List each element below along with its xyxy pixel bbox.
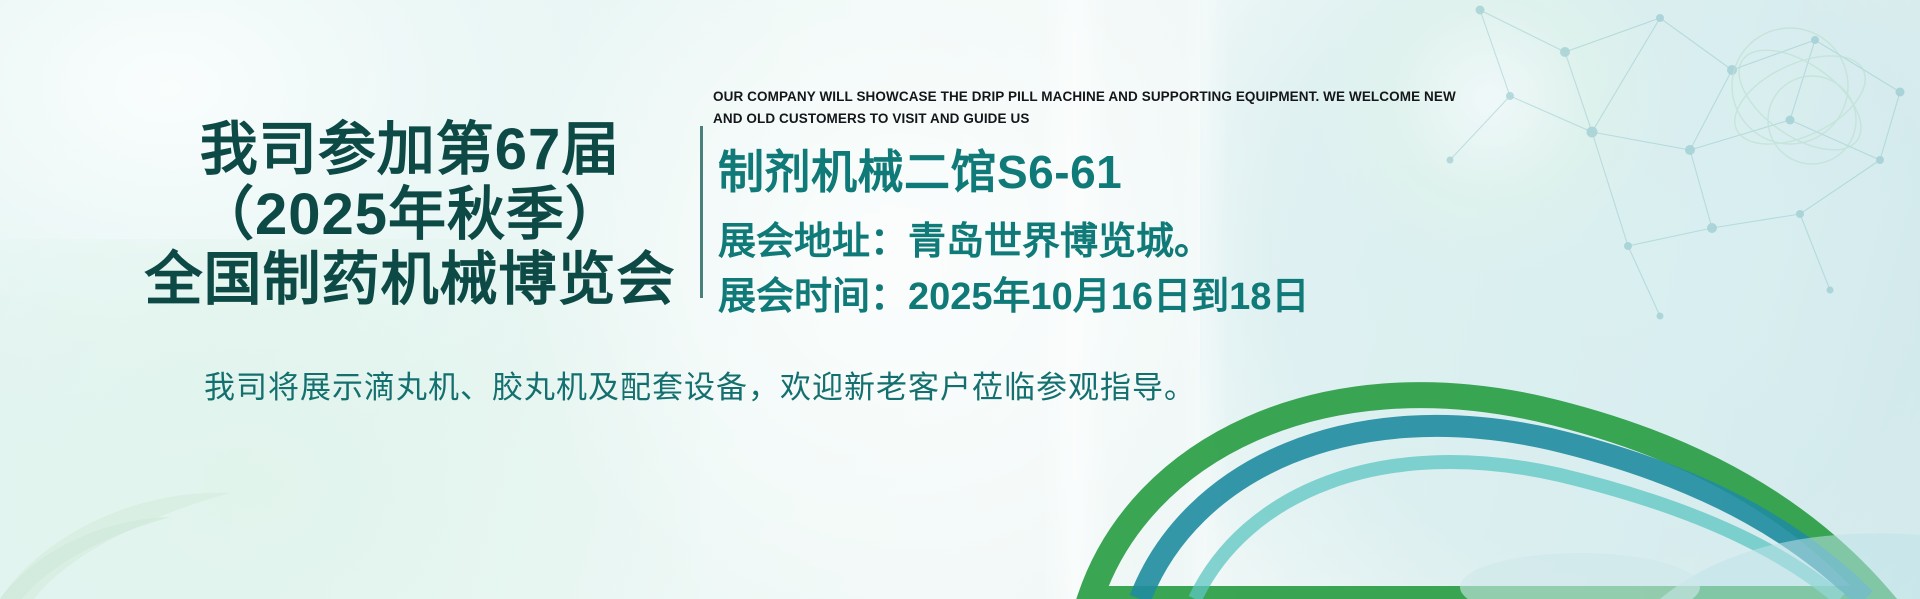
english-caption: OUR COMPANY WILL SHOWCASE THE DRIP PILL … [713,86,1473,131]
main-headline: 我司参加第67届 （2025年秋季） 全国制药机械博览会 [130,118,690,313]
exhibition-date: 展会时间：2025年10月16日到18日 [718,270,1309,325]
exhibition-banner: 我司参加第67届 （2025年秋季） 全国制药机械博览会 OUR COMPANY… [0,0,1920,599]
tagline-text: 我司将展示滴丸机、胶丸机及配套设备，欢迎新老客户莅临参观指导。 [0,362,1400,407]
vertical-divider [700,126,703,298]
headline-line-2: （2025年秋季） [130,183,690,248]
exhibition-address: 展会地址：青岛世界博览城。 [718,215,1309,270]
exhibition-info-block: 制剂机械二馆S6-61 展会地址：青岛世界博览城。 展会时间：2025年10月1… [718,146,1309,325]
banner-content: 我司参加第67届 （2025年秋季） 全国制药机械博览会 OUR COMPANY… [0,0,1920,599]
headline-line-3: 全国制药机械博览会 [130,248,690,313]
headline-line-1: 我司参加第67届 [130,118,690,183]
booth-number: 制剂机械二馆S6-61 [718,146,1309,199]
